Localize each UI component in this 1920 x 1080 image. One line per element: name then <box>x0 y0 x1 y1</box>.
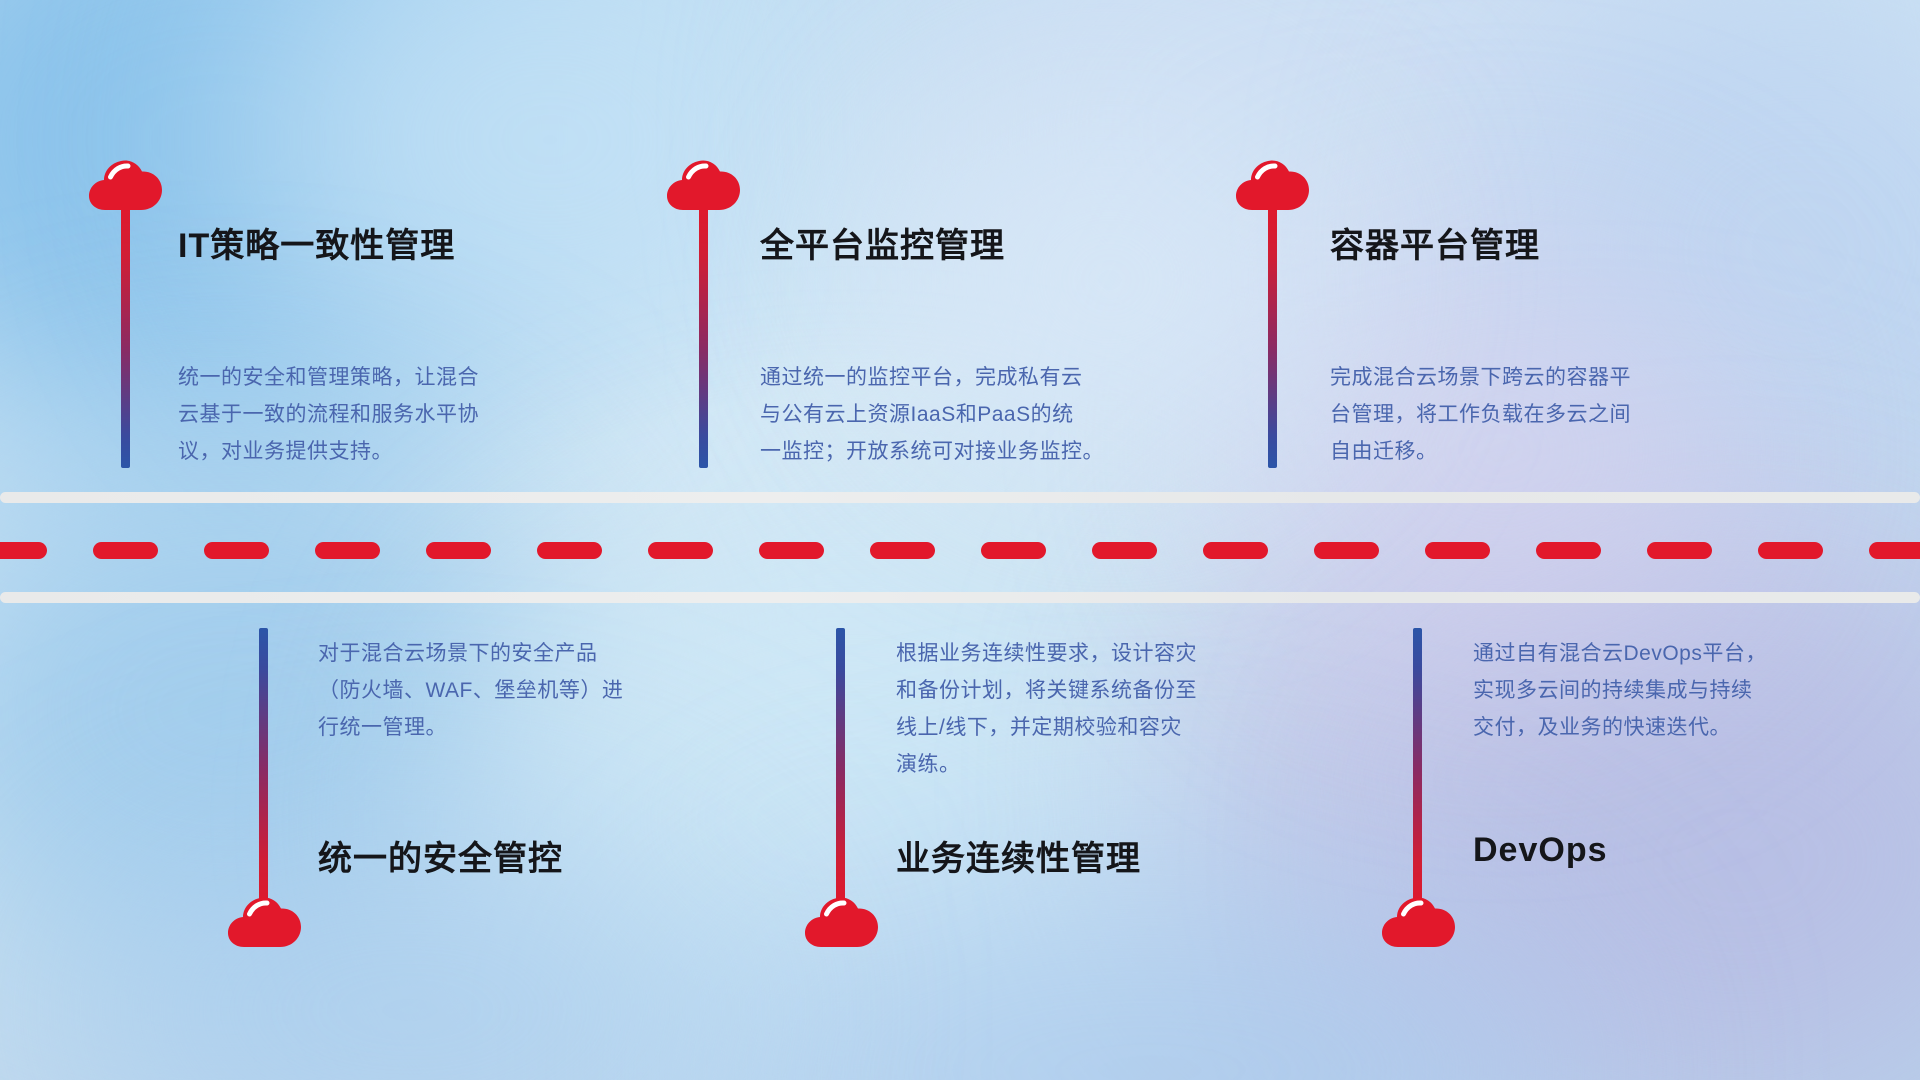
infographic-stage: IT策略一致性管理 统一的安全和管理策略，让混合 云基于一致的流程和服务水平协 … <box>0 0 1920 1080</box>
item-title: 统一的安全管控 <box>318 831 563 880</box>
road-dash-segment <box>93 542 158 559</box>
road-center-dashes <box>0 542 1920 559</box>
item-title: 全平台监控管理 <box>760 218 1005 267</box>
pin-stem <box>1413 628 1422 918</box>
item-title: 业务连续性管理 <box>896 831 1141 880</box>
road-dash-segment <box>1536 542 1601 559</box>
cloud-icon <box>665 160 741 212</box>
pin-stem <box>699 198 708 468</box>
cloud-icon <box>226 897 302 949</box>
road-dash-segment <box>0 542 47 559</box>
pin-stem <box>1268 198 1277 468</box>
road-dash-segment <box>426 542 491 559</box>
road-line-top <box>0 492 1920 503</box>
road-dash-segment <box>1314 542 1379 559</box>
item-title: 容器平台管理 <box>1330 218 1540 267</box>
road-dash-segment <box>759 542 824 559</box>
road-dash-segment <box>1869 542 1920 559</box>
pin-stem <box>836 628 845 918</box>
road-dash-segment <box>1203 542 1268 559</box>
road-dash-segment <box>315 542 380 559</box>
road-dash-segment <box>1092 542 1157 559</box>
cloud-icon <box>1234 160 1310 212</box>
item-title: IT策略一致性管理 <box>178 218 455 267</box>
cloud-icon <box>803 897 879 949</box>
pin-stem <box>121 198 130 468</box>
road-dash-segment <box>648 542 713 559</box>
item-description: 对于混合云场景下的安全产品 （防火墙、WAF、堡垒机等）进 行统一管理。 <box>318 635 748 746</box>
road-dash-segment <box>1647 542 1712 559</box>
item-description: 通过统一的监控平台，完成私有云 与公有云上资源IaaS和PaaS的统 一监控；开… <box>760 359 1220 470</box>
pin-stem <box>259 628 268 918</box>
road-line-bottom <box>0 592 1920 603</box>
road-dash-segment <box>1758 542 1823 559</box>
cloud-icon <box>87 160 163 212</box>
item-description: 完成混合云场景下跨云的容器平 台管理，将工作负载在多云之间 自由迁移。 <box>1330 359 1780 470</box>
item-description: 根据业务连续性要求，设计容灾 和备份计划，将关键系统备份至 线上/线下，并定期校… <box>896 635 1326 783</box>
road-dash-segment <box>537 542 602 559</box>
item-title: DevOps <box>1473 831 1608 870</box>
item-description: 通过自有混合云DevOps平台， 实现多云间的持续集成与持续 交付，及业务的快速… <box>1473 635 1903 746</box>
road-dash-segment <box>204 542 269 559</box>
road-dash-segment <box>1425 542 1490 559</box>
road-dash-segment <box>870 542 935 559</box>
road-dash-segment <box>981 542 1046 559</box>
item-description: 统一的安全和管理策略，让混合 云基于一致的流程和服务水平协 议，对业务提供支持。 <box>178 359 608 470</box>
cloud-icon <box>1380 897 1456 949</box>
